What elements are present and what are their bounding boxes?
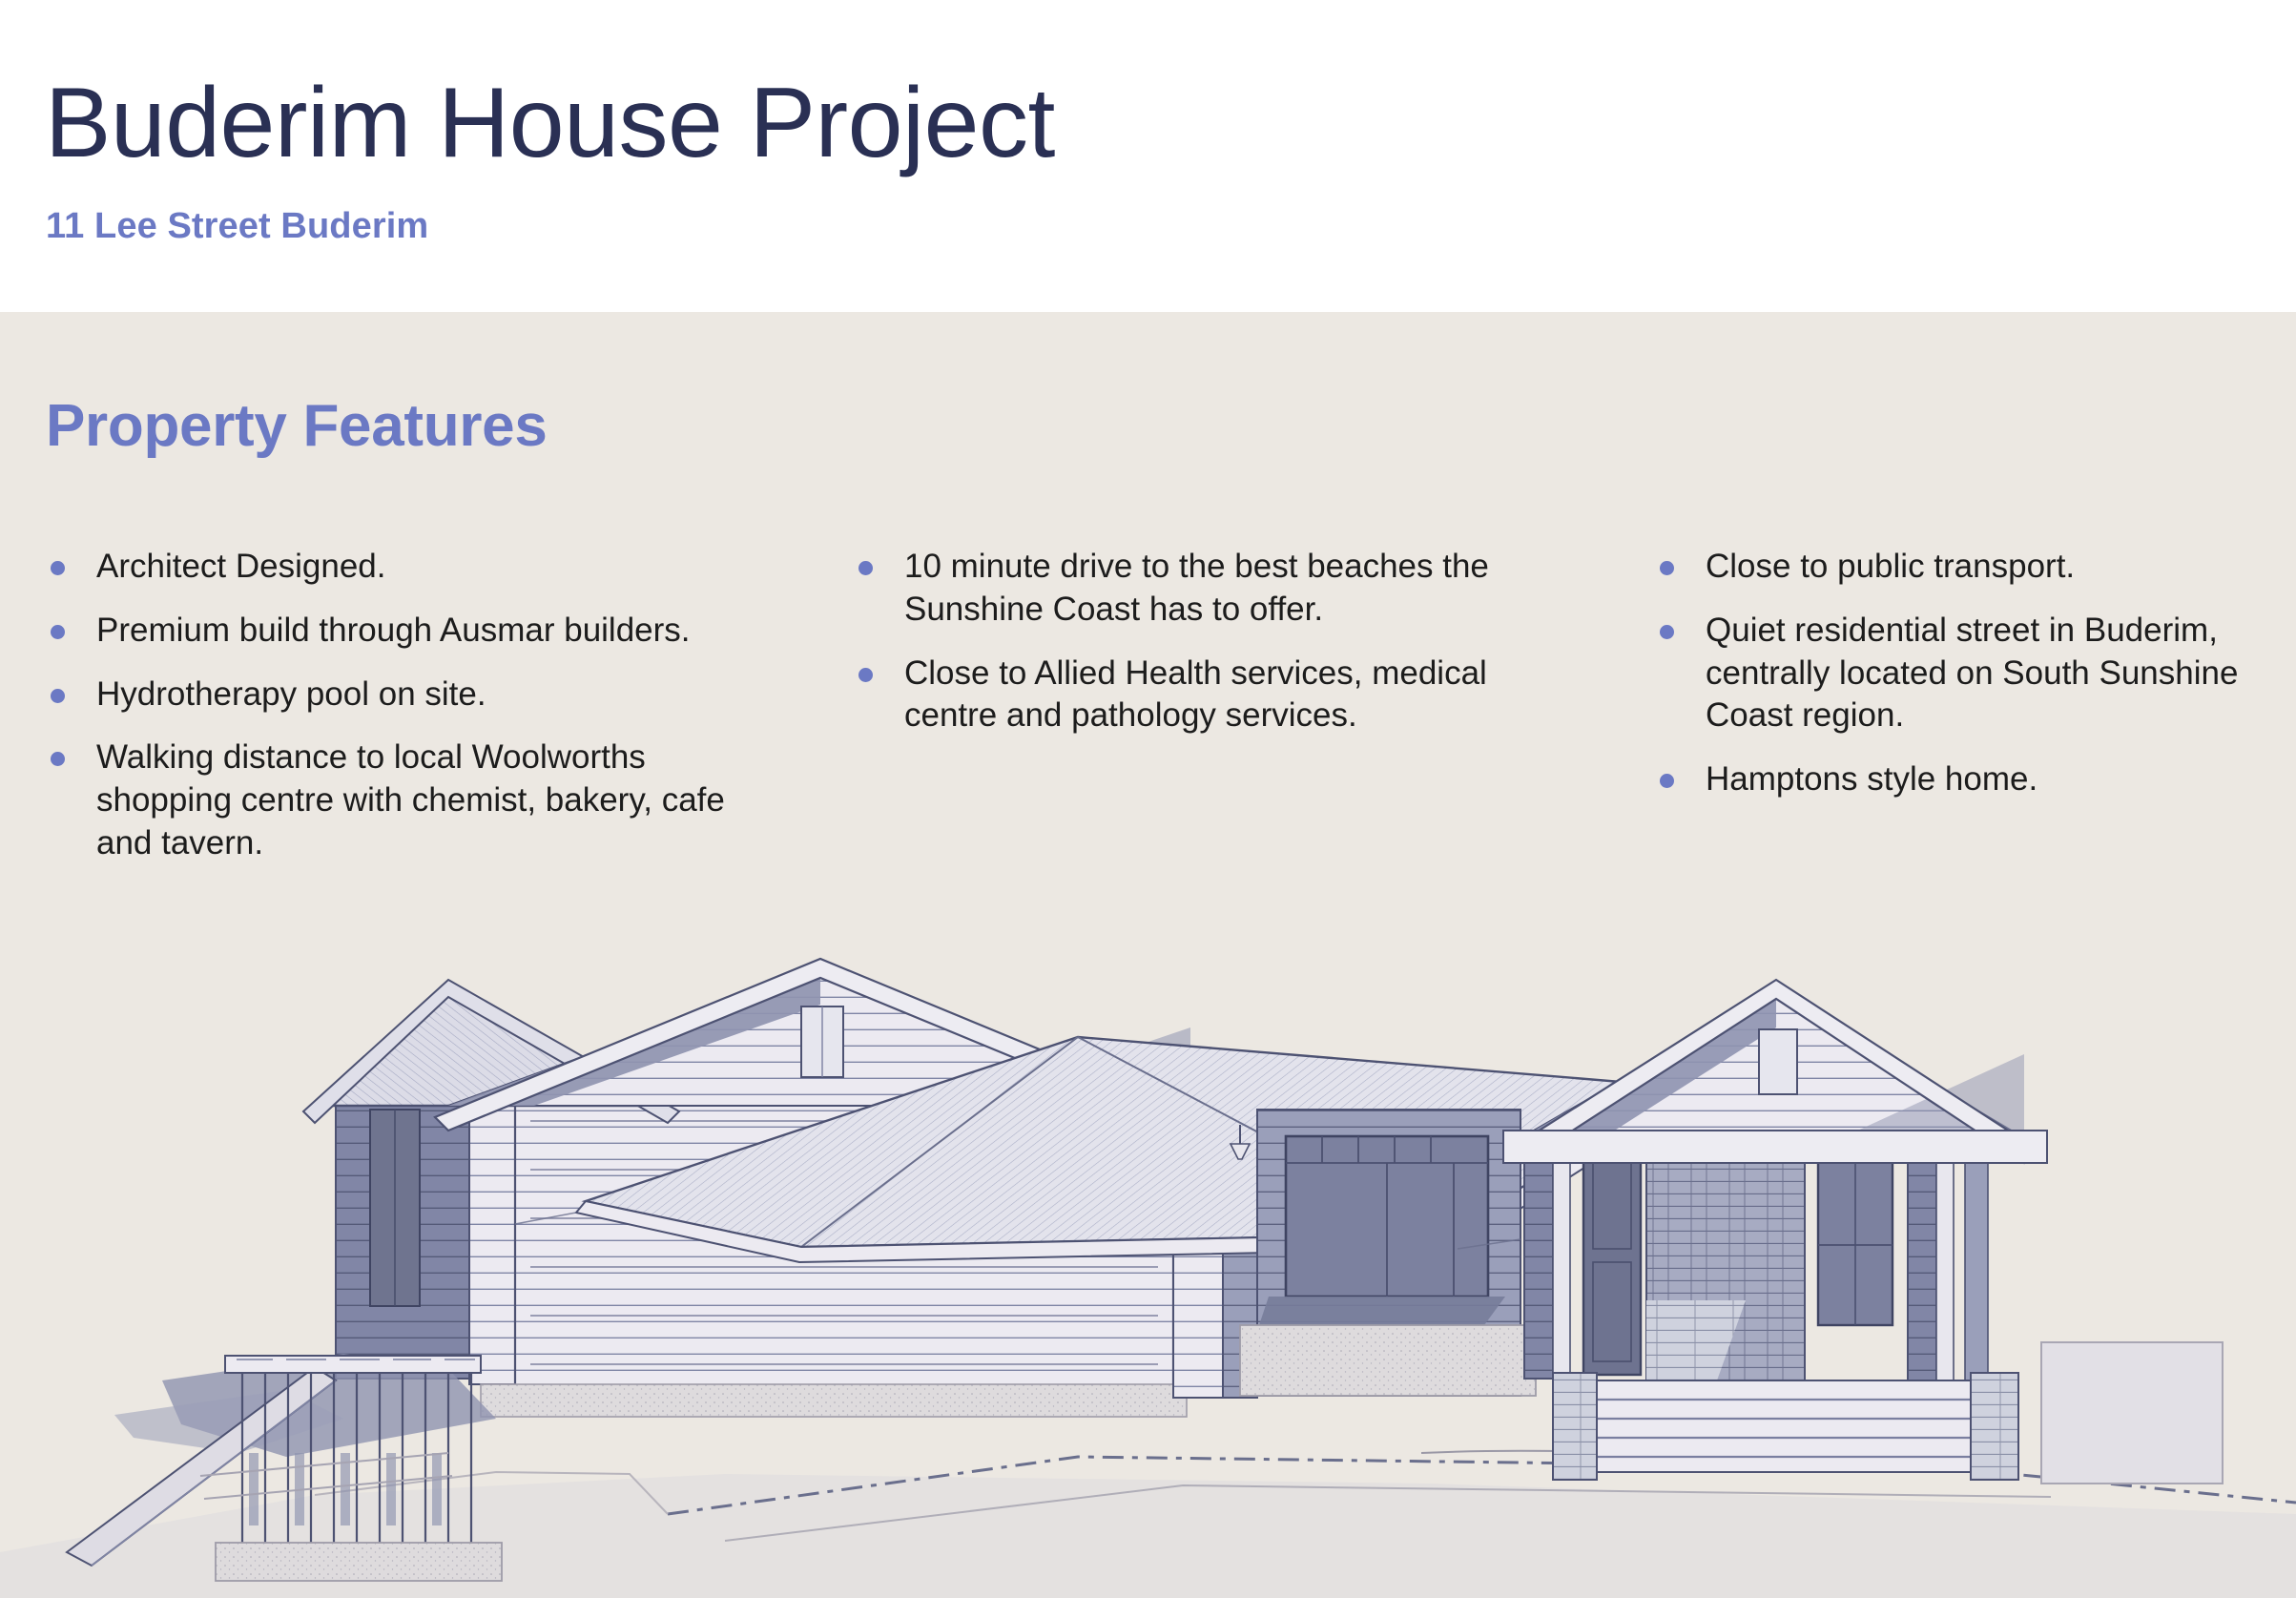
- list-item-label: Walking distance to local Woolworths sho…: [96, 738, 725, 861]
- bullet-dot-icon: [858, 561, 873, 575]
- list-item: Premium build through Ausmar builders.: [46, 610, 771, 653]
- bullet-dot-icon: [1660, 774, 1674, 788]
- list-item: Walking distance to local Woolworths sho…: [46, 737, 771, 864]
- bullet-dot-icon: [51, 625, 65, 639]
- list-item: Close to Allied Health services, medical…: [854, 653, 1521, 738]
- bullet-dot-icon: [51, 689, 65, 703]
- list-item: Quiet residential street in Buderim, cen…: [1655, 610, 2265, 737]
- section-heading-property-features: Property Features: [46, 394, 548, 459]
- list-item-label: Quiet residential street in Buderim, cen…: [1706, 612, 2238, 735]
- bullet-dot-icon: [1660, 625, 1674, 639]
- bullet-dot-icon: [1660, 561, 1674, 575]
- list-item-label: Close to Allied Health services, medical…: [904, 654, 1487, 735]
- list-item: 10 minute drive to the best beaches the …: [854, 546, 1521, 632]
- house-rendering-svg: [0, 884, 2296, 1598]
- list-item-label: Premium build through Ausmar builders.: [96, 612, 691, 649]
- slide-page: Buderim House Project 11 Lee Street Bude…: [0, 0, 2296, 1598]
- list-item-label: Close to public transport.: [1706, 548, 2075, 585]
- list-item-label: Hamptons style home.: [1706, 760, 2037, 798]
- page-body: Property Features Architect Designed. Pr…: [0, 312, 2296, 1598]
- list-item-label: Hydrotherapy pool on site.: [96, 675, 486, 713]
- list-item: Hydrotherapy pool on site.: [46, 674, 771, 716]
- list-item: Architect Designed.: [46, 546, 771, 589]
- bullet-dot-icon: [51, 752, 65, 766]
- bullet-dot-icon: [51, 561, 65, 575]
- list-item-label: 10 minute drive to the best beaches the …: [904, 548, 1489, 628]
- page-title: Buderim House Project: [45, 73, 1055, 174]
- list-item: Hamptons style home.: [1655, 758, 2265, 801]
- house-elevation-rendering: [0, 884, 2296, 1598]
- feature-column-1: Architect Designed. Premium build throug…: [46, 546, 771, 886]
- list-item: Close to public transport.: [1655, 546, 2265, 589]
- feature-column-2: 10 minute drive to the best beaches the …: [854, 546, 1521, 758]
- list-item-label: Architect Designed.: [96, 548, 385, 585]
- page-subtitle-address: 11 Lee Street Buderim: [46, 207, 428, 247]
- feature-column-3: Close to public transport. Quiet residen…: [1655, 546, 2265, 822]
- page-header: Buderim House Project 11 Lee Street Bude…: [0, 0, 2296, 312]
- bullet-dot-icon: [858, 668, 873, 682]
